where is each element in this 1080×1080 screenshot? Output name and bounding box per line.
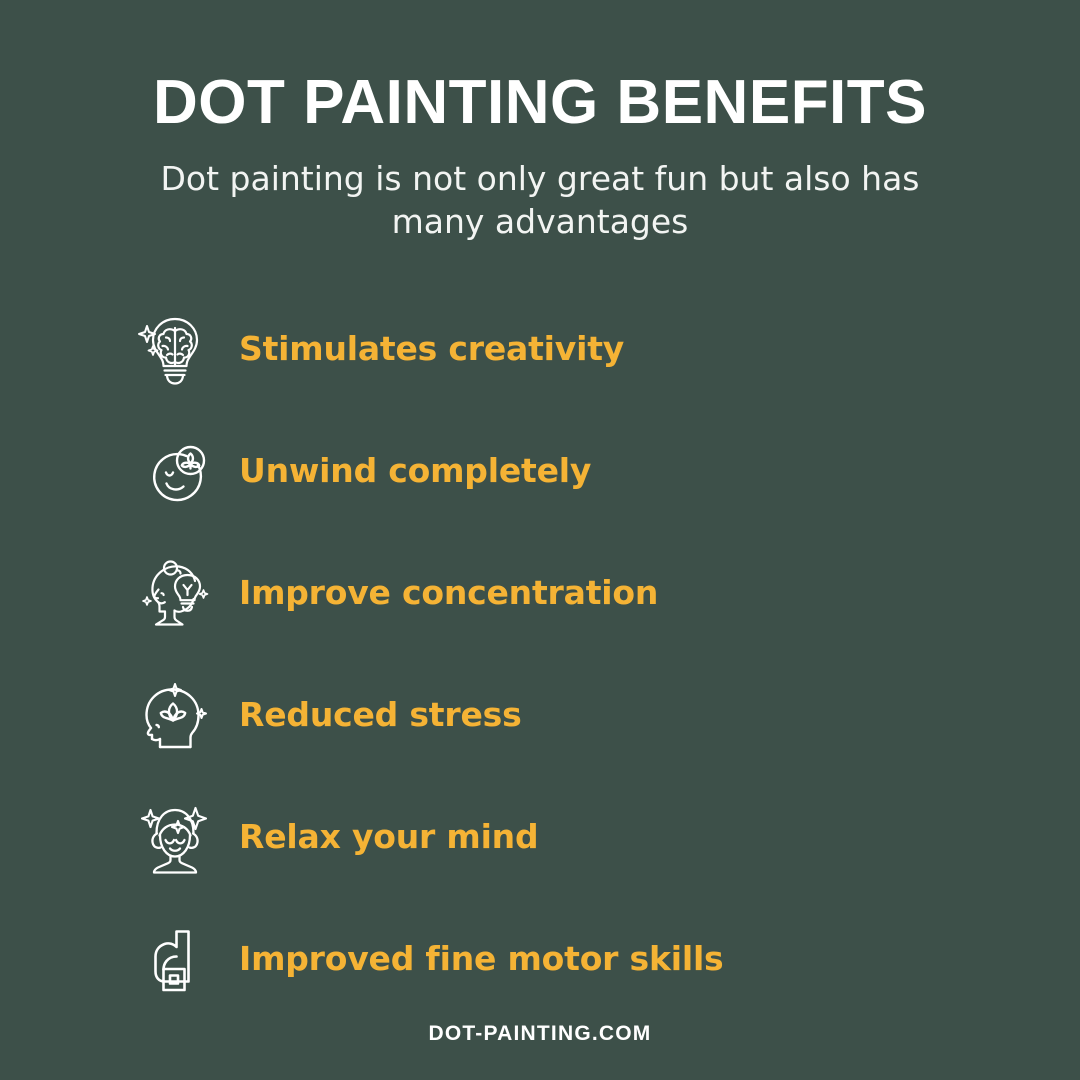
poster: DOT PAINTING BENEFITS Dot painting is no… <box>0 0 1080 1080</box>
benefit-label: Relax your mind <box>239 817 538 856</box>
head-lotus-icon <box>135 675 215 755</box>
relaxed-face-sparkle-icon <box>135 797 215 877</box>
footer-website-url: DOT-PAINTING.COM <box>429 1022 652 1045</box>
poster-footer: DOT-PAINTING.COM <box>0 1022 1080 1046</box>
brain-lightbulb-icon <box>135 309 215 389</box>
benefit-label: Improved fine motor skills <box>239 939 724 978</box>
list-item: Improve concentration <box>135 532 1080 654</box>
benefit-label: Stimulates creativity <box>239 329 624 368</box>
list-item: Reduced stress <box>135 654 1080 776</box>
list-item: Stimulates creativity <box>135 288 1080 410</box>
list-item: Unwind completely <box>135 410 1080 532</box>
list-item: Improved fine motor skills <box>135 898 1080 1020</box>
hand-holding-object-icon <box>135 919 215 999</box>
page-title: DOT PAINTING BENEFITS <box>0 72 1080 134</box>
list-item: Relax your mind <box>135 776 1080 898</box>
poster-header: DOT PAINTING BENEFITS Dot painting is no… <box>0 0 1080 244</box>
head-lightbulb-icon <box>135 553 215 633</box>
page-subtitle: Dot painting is not only great fun but a… <box>145 134 935 244</box>
benefits-list: Stimulates creativity <box>0 288 1080 1020</box>
smiley-flower-icon <box>135 431 215 511</box>
benefit-label: Improve concentration <box>239 573 658 612</box>
benefit-label: Unwind completely <box>239 451 591 490</box>
benefit-label: Reduced stress <box>239 695 522 734</box>
